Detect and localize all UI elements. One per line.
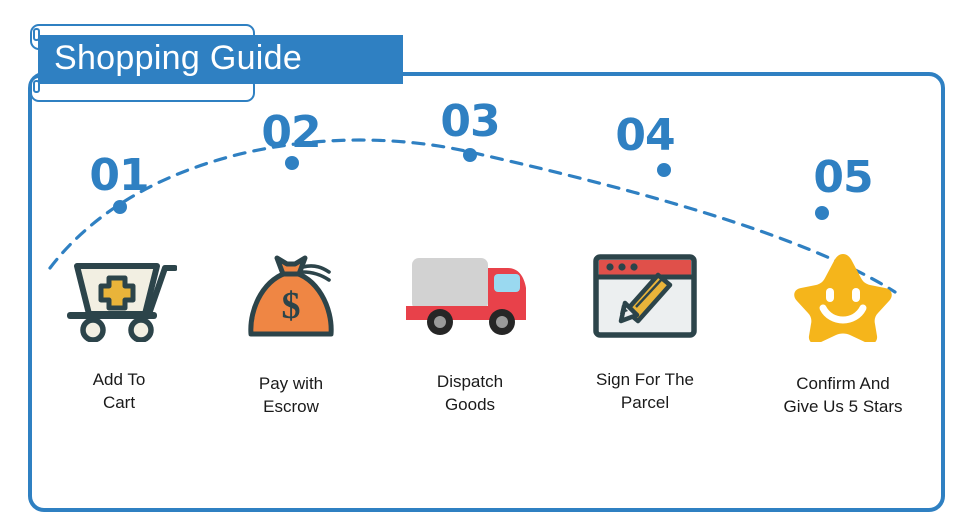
step-label-01: Add To Cart: [24, 368, 214, 414]
delivery-truck-icon: [375, 248, 565, 344]
infographic-canvas: 01 Add To Cart 02: [0, 0, 960, 529]
sign-parcel-icon: [550, 248, 740, 344]
step-label-02-line1: Pay with: [259, 374, 323, 393]
money-bag-icon: $: [196, 248, 386, 344]
step-label-03-line1: Dispatch: [437, 372, 503, 391]
step-label-02-line2: Escrow: [196, 395, 386, 418]
step-label-02: Pay with Escrow: [196, 372, 386, 418]
shopping-cart-icon: [24, 248, 214, 344]
smiling-star-icon: [748, 248, 938, 344]
step-label-05-line2: Give Us 5 Stars: [748, 395, 938, 418]
step-label-03-line2: Goods: [375, 393, 565, 416]
step-number-04: 04: [550, 110, 740, 161]
step-04: 04 Sign For The: [550, 0, 740, 529]
step-number-01: 01: [24, 150, 214, 201]
step-05: 05 Confirm And Give Us 5 Stars: [748, 0, 938, 529]
step-label-04: Sign For The Parcel: [550, 368, 740, 414]
step-label-05-line1: Confirm And: [796, 374, 890, 393]
svg-text:$: $: [282, 285, 301, 327]
banner-ribbon: Shopping Guide: [0, 0, 420, 100]
step-number-02: 02: [196, 107, 386, 158]
step-label-01-line1: Add To: [93, 370, 146, 389]
step-label-04-line1: Sign For The: [596, 370, 694, 389]
step-label-03: Dispatch Goods: [375, 370, 565, 416]
step-label-01-line2: Cart: [24, 391, 214, 414]
step-number-05: 05: [748, 152, 938, 203]
page-title: Shopping Guide: [54, 35, 394, 84]
step-number-03: 03: [375, 96, 565, 147]
step-label-04-line2: Parcel: [550, 391, 740, 414]
step-label-05: Confirm And Give Us 5 Stars: [748, 372, 938, 418]
